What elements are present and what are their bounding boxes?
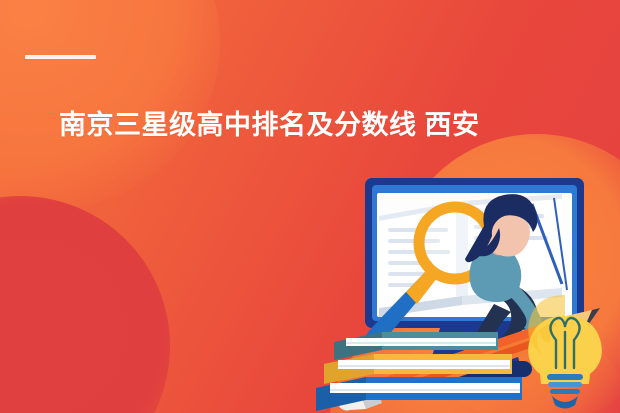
page-title: 南京三星级高中排名及分数线 西安 [59,108,480,142]
promo-banner: 南京三星级高中排名及分数线 西安 [0,0,620,413]
study-search-illustration [316,168,620,413]
accent-rule [25,55,96,59]
book-stack [316,332,522,411]
